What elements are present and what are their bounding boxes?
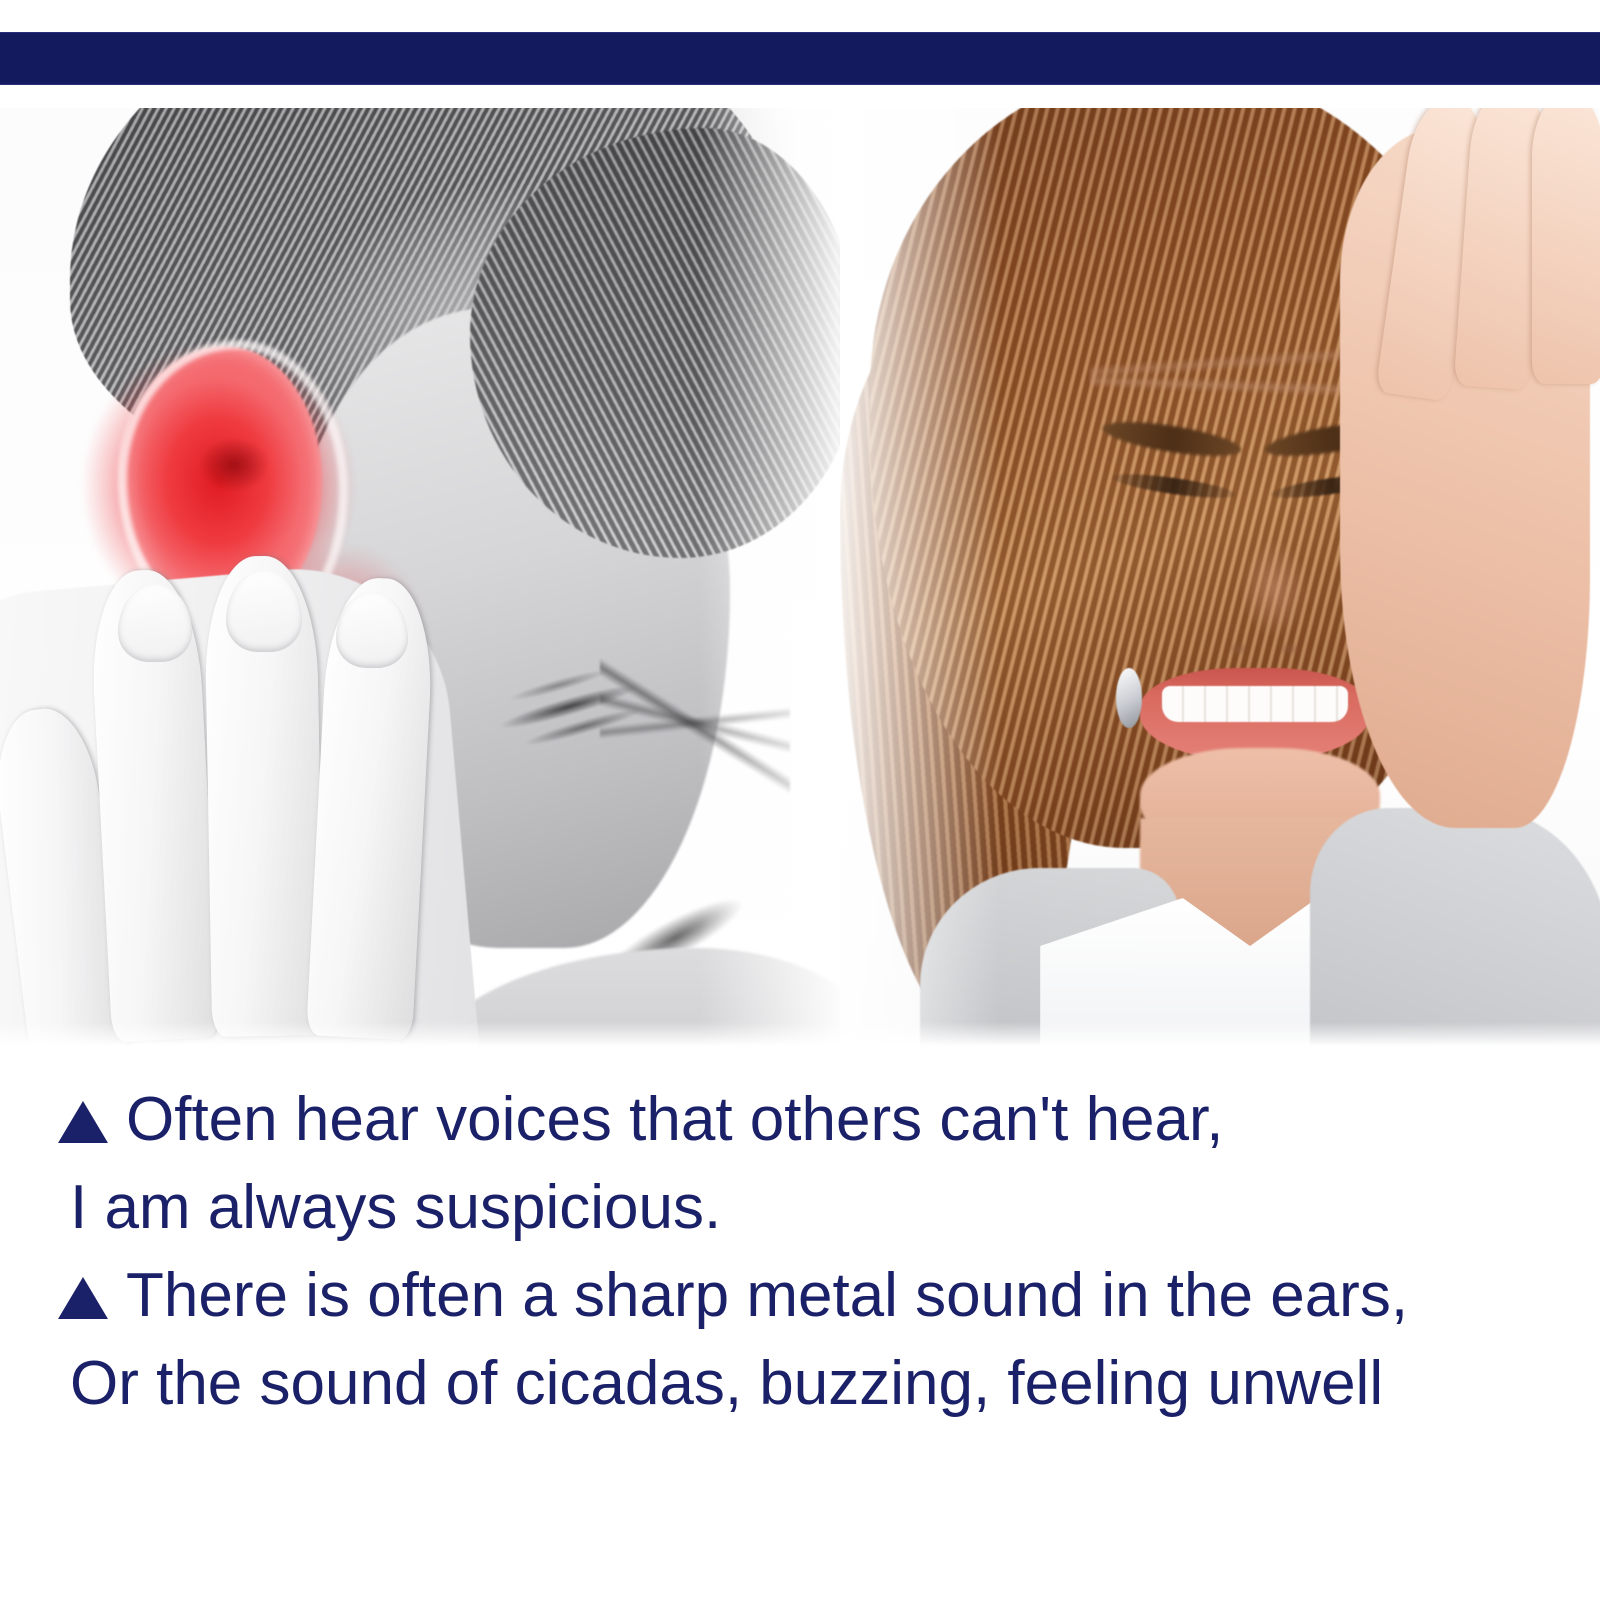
woman-sweater-right-shoulder: [1310, 808, 1600, 1048]
woman-teeth: [1162, 686, 1348, 722]
caption-line-3-text: There is often a sharp metal sound in th…: [126, 1261, 1408, 1330]
top-navy-divider-bar: [0, 32, 1600, 85]
man-eye-wrinkles: [600, 628, 790, 818]
photo-strip: [0, 108, 1600, 1048]
caption-line-2-text: I am always suspicious.: [70, 1173, 721, 1242]
woman-earring: [1116, 668, 1142, 728]
caption-line-1: Often hear voices that others can't hear…: [0, 1076, 1600, 1164]
caption-line-4: Or the sound of cicadas, buzzing, feelin…: [0, 1340, 1600, 1428]
caption-line-1-text: Often hear voices that others can't hear…: [126, 1085, 1223, 1154]
photo-woman-covering-ears: [840, 108, 1600, 1048]
tinnitus-symptom-infographic: Often hear voices that others can't hear…: [0, 0, 1600, 1600]
caption-line-3: There is often a sharp metal sound in th…: [0, 1252, 1600, 1340]
woman-finger-3: [1532, 108, 1600, 384]
woman-nose: [1208, 508, 1318, 668]
photo-man-ear-pain: [0, 108, 860, 1048]
triangle-bullet-icon: [58, 1277, 108, 1319]
caption-line-2: I am always suspicious.: [0, 1164, 1600, 1252]
caption-line-4-text: Or the sound of cicadas, buzzing, feelin…: [70, 1349, 1383, 1418]
triangle-bullet-icon: [58, 1101, 108, 1143]
symptom-caption-block: Often hear voices that others can't hear…: [0, 1076, 1600, 1428]
